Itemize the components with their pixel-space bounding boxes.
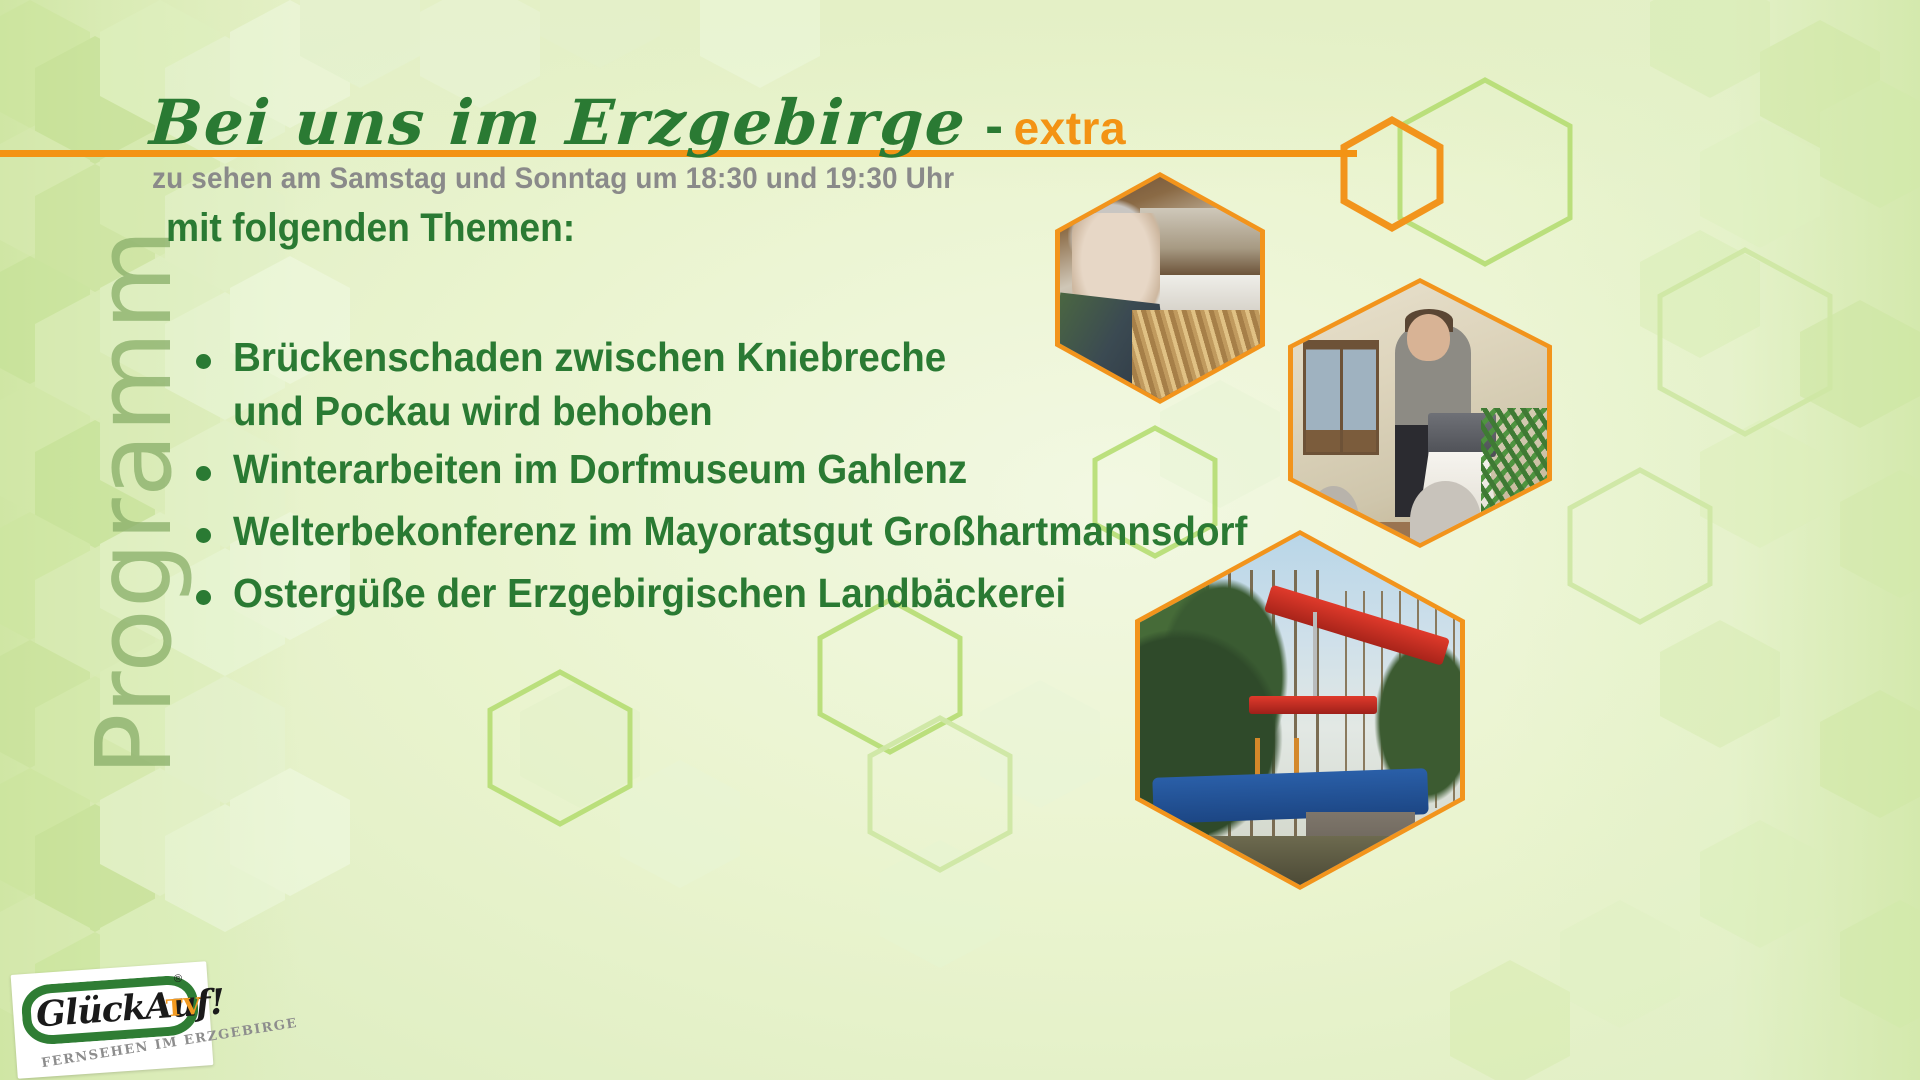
list-item: Winterarbeiten im Dorfmuseum Gahlenz	[196, 442, 1236, 496]
topics-intro-label: mit folgenden Themen:	[166, 206, 575, 251]
hex-photo-image	[1293, 283, 1547, 543]
bullet-dot-icon	[196, 590, 211, 605]
topic-text-1-line1: Brückenschaden zwischen Kniebreche	[233, 334, 946, 380]
bridge-crane-photo	[1135, 530, 1465, 890]
programm-vertical-label: Programm	[82, 202, 186, 802]
hex-photo-image	[1140, 535, 1460, 885]
background-right-wash	[1500, 0, 1920, 1080]
logo-tv-text: TV	[165, 993, 202, 1022]
slide-canvas: Programm Bei uns im Erzgebirge - extra z…	[0, 0, 1920, 1080]
list-item: Ostergüße der Erzgebirgischen Landbäcker…	[196, 566, 1236, 620]
topic-text-1-line2: und Pockau wird behoben	[233, 388, 713, 434]
hex-photo-image	[1060, 177, 1260, 399]
bullet-dot-icon	[196, 528, 211, 543]
broadcast-times-subtitle: zu sehen am Samstag und Sonntag um 18:30…	[152, 162, 954, 196]
headline-dash: -	[985, 95, 1003, 157]
topic-text-4: Ostergüße der Erzgebirgischen Landbäcker…	[233, 566, 1066, 620]
headline: Bei uns im Erzgebirge - extra	[150, 86, 1126, 159]
topic-text-3: Welterbekonferenz im Mayoratsgut Großhar…	[233, 504, 1247, 558]
museum-woman-photo	[1055, 172, 1265, 404]
conference-speaker-photo	[1288, 278, 1552, 548]
headline-main-text: Bei uns im Erzgebirge	[147, 86, 969, 159]
list-item: Welterbekonferenz im Mayoratsgut Großhar…	[196, 504, 1236, 558]
topic-text-2: Winterarbeiten im Dorfmuseum Gahlenz	[233, 442, 967, 496]
glueckauf-tv-logo: GlückAuf! ® TV FERNSEHEN IM ERZGEBIRGE	[14, 968, 210, 1072]
bullet-dot-icon	[196, 354, 211, 369]
logo-exclaim: !	[208, 981, 225, 1023]
bullet-dot-icon	[196, 466, 211, 481]
topic-text-1: Brückenschaden zwischen Kniebreche und P…	[233, 330, 946, 438]
headline-extra-text: extra	[1014, 101, 1126, 155]
logo-registered-mark: ®	[174, 973, 183, 986]
